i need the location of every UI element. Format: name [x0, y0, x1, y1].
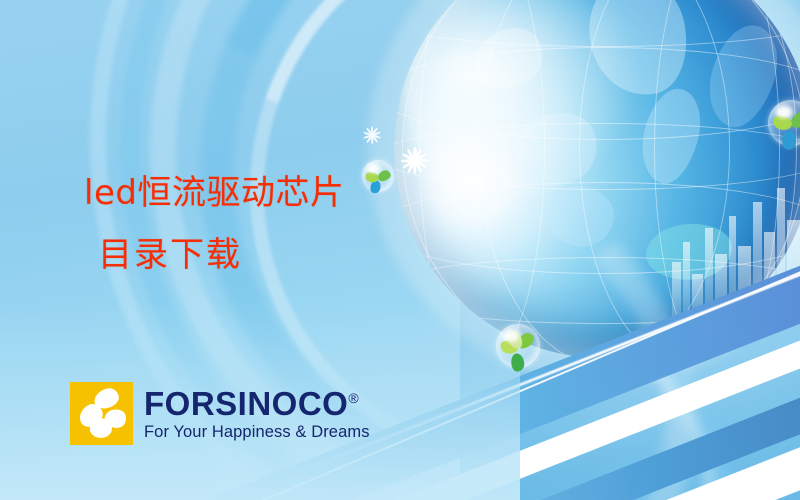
brand-name: FORSINOCO® — [144, 387, 370, 420]
headline-line-1: led恒流驱动芯片 — [84, 173, 344, 213]
bubble-pinwheel-icon — [362, 160, 394, 192]
headline-text: led恒流驱动芯片 目录下载 — [84, 162, 344, 286]
city-skyline-icon — [670, 170, 800, 320]
sparkle-flower-icon — [362, 125, 382, 145]
company-logo: FORSINOCO® For Your Happiness & Dreams — [70, 382, 370, 445]
registered-trademark-mark: ® — [348, 390, 359, 406]
promo-banner: led恒流驱动芯片 目录下载 FORSINOCO® For Your Happi… — [0, 0, 800, 500]
logo-wordmark: FORSINOCO® For Your Happiness & Dreams — [144, 387, 370, 441]
four-petal-pinwheel-icon — [70, 382, 133, 445]
sparkle-flower-icon — [400, 146, 430, 176]
brand-name-text: FORSINOCO — [144, 385, 348, 422]
headline-line-2: 目录下载 — [84, 224, 344, 286]
brand-tagline: For Your Happiness & Dreams — [144, 424, 370, 441]
bubble-pinwheel-icon — [496, 324, 540, 368]
